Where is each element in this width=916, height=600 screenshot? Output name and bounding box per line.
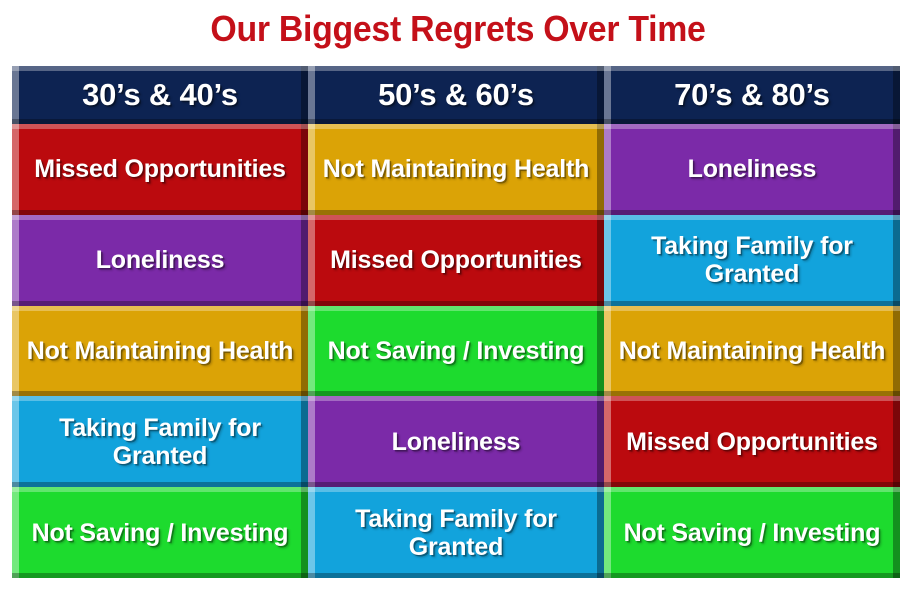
bevel-bottom-edge: [604, 573, 900, 578]
regret-label: Loneliness: [86, 246, 235, 274]
table-row: Not Saving / Investing Taking Family for…: [12, 487, 900, 578]
table-row: Loneliness Missed Opportunities Taking F…: [12, 215, 900, 306]
bevel-top-edge: [12, 396, 308, 401]
page-title: Our Biggest Regrets Over Time: [27, 6, 888, 52]
regret-cell[interactable]: Loneliness: [308, 396, 604, 487]
regret-cell[interactable]: Taking Family for Granted: [12, 396, 308, 487]
regret-label: Missed Opportunities: [320, 246, 592, 274]
regret-label: Not Saving / Investing: [614, 519, 891, 547]
column-header-30s-40s[interactable]: 30’s & 40’s: [12, 66, 308, 124]
regret-cell[interactable]: Loneliness: [12, 215, 308, 306]
bevel-top-edge: [604, 487, 900, 492]
regret-cell[interactable]: Missed Opportunities: [308, 215, 604, 306]
regret-label: Taking Family for Granted: [12, 414, 308, 470]
regret-cell[interactable]: Taking Family for Granted: [308, 487, 604, 578]
table-header-row: 30’s & 40’s 50’s & 60’s 70’s & 80’s: [12, 66, 900, 124]
regrets-table: 30’s & 40’s 50’s & 60’s 70’s & 80’s Miss…: [12, 66, 900, 578]
bevel-top-edge: [604, 215, 900, 220]
column-header-label: 30’s & 40’s: [72, 78, 248, 113]
bevel-bottom-edge: [308, 573, 604, 578]
column-header-70s-80s[interactable]: 70’s & 80’s: [604, 66, 900, 124]
regret-cell[interactable]: Loneliness: [604, 124, 900, 215]
bevel-bottom-edge: [12, 573, 308, 578]
regret-label: Not Maintaining Health: [313, 155, 599, 183]
table-row: Missed Opportunities Not Maintaining Hea…: [12, 124, 900, 215]
regret-label: Loneliness: [678, 155, 827, 183]
bevel-top-edge: [12, 306, 308, 311]
bevel-top-edge: [604, 396, 900, 401]
regret-cell[interactable]: Not Maintaining Health: [604, 306, 900, 397]
regret-label: Not Maintaining Health: [609, 337, 895, 365]
regrets-infographic: Our Biggest Regrets Over Time 30’s & 40’…: [0, 0, 916, 600]
regret-label: Missed Opportunities: [24, 155, 296, 183]
bevel-top-edge: [604, 124, 900, 129]
regret-cell[interactable]: Not Saving / Investing: [308, 306, 604, 397]
regret-label: Loneliness: [382, 428, 531, 456]
regret-label: Not Saving / Investing: [22, 519, 299, 547]
bevel-top-edge: [308, 215, 604, 220]
regret-cell[interactable]: Not Maintaining Health: [12, 306, 308, 397]
bevel-top-edge: [308, 66, 604, 71]
regret-cell[interactable]: Not Saving / Investing: [12, 487, 308, 578]
table-row: Taking Family for Granted Loneliness Mis…: [12, 396, 900, 487]
regret-label: Missed Opportunities: [616, 428, 888, 456]
regret-label: Not Maintaining Health: [17, 337, 303, 365]
column-header-50s-60s[interactable]: 50’s & 60’s: [308, 66, 604, 124]
bevel-top-edge: [12, 215, 308, 220]
regret-cell[interactable]: Missed Opportunities: [604, 396, 900, 487]
bevel-top-edge: [604, 66, 900, 71]
regret-cell[interactable]: Not Saving / Investing: [604, 487, 900, 578]
regret-cell[interactable]: Taking Family for Granted: [604, 215, 900, 306]
regret-label: Taking Family for Granted: [308, 505, 604, 561]
column-header-label: 70’s & 80’s: [664, 78, 840, 113]
bevel-top-edge: [12, 66, 308, 71]
regret-cell[interactable]: Not Maintaining Health: [308, 124, 604, 215]
bevel-top-edge: [604, 306, 900, 311]
bevel-top-edge: [308, 396, 604, 401]
column-header-label: 50’s & 60’s: [368, 78, 544, 113]
table-row: Not Maintaining Health Not Saving / Inve…: [12, 306, 900, 397]
bevel-top-edge: [308, 306, 604, 311]
bevel-top-edge: [308, 124, 604, 129]
regret-cell[interactable]: Missed Opportunities: [12, 124, 308, 215]
bevel-top-edge: [12, 124, 308, 129]
bevel-top-edge: [308, 487, 604, 492]
regret-label: Not Saving / Investing: [318, 337, 595, 365]
bevel-top-edge: [12, 487, 308, 492]
regret-label: Taking Family for Granted: [604, 232, 900, 288]
